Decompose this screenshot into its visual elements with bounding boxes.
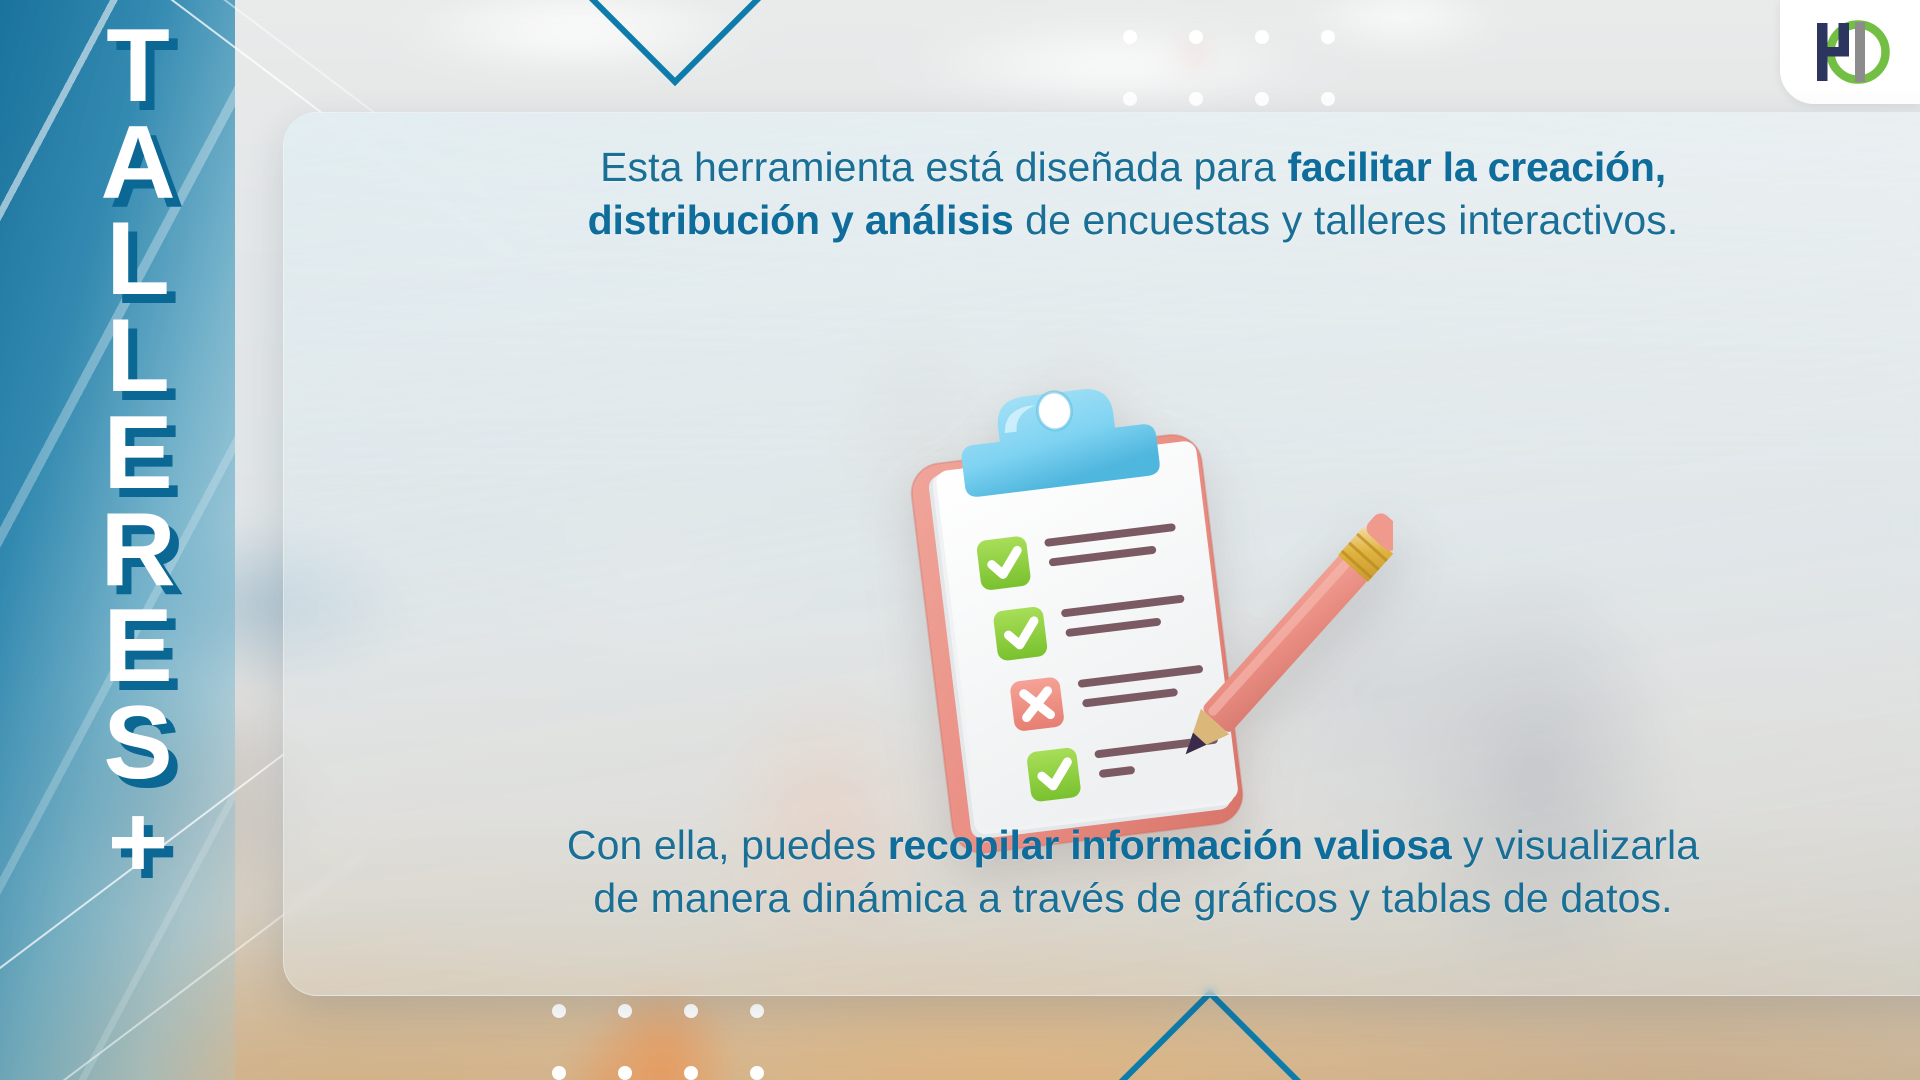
clipboard-checklist-icon	[873, 375, 1393, 895]
top-line1-plain: Esta herramienta está diseñada para	[600, 144, 1287, 190]
brand-letter: L	[106, 308, 170, 405]
top-paragraph: Esta herramienta está diseñada para faci…	[284, 141, 1920, 248]
brand-letter-plus: +	[108, 794, 169, 891]
dot-grid-top-right	[1123, 30, 1335, 106]
brand-letter: R	[100, 502, 175, 599]
brand-letter: T	[106, 18, 170, 115]
vertical-brand-word: T A L L E R E S +	[78, 18, 198, 890]
logo-badge	[1780, 0, 1920, 104]
bottom-line1-bold: recopilar información valiosa	[888, 822, 1452, 868]
hdo-logo-icon	[1807, 15, 1893, 89]
slide-root: T A L L E R E S + Es	[0, 0, 1920, 1080]
brand-letter: E	[103, 598, 172, 695]
top-line2-plain: de encuestas y talleres interactivos.	[1014, 197, 1679, 243]
top-line1-bold: facilitar la creación,	[1287, 144, 1665, 190]
dot-grid-bottom-left	[552, 1004, 764, 1080]
brand-letter: A	[100, 115, 175, 212]
content-glass-panel: Esta herramienta está diseñada para faci…	[283, 112, 1920, 996]
clipboard-illustration	[873, 375, 1393, 895]
brand-letter: L	[106, 211, 170, 308]
bottom-line1-tail: y visualizarla	[1452, 822, 1700, 868]
bottom-line1-plain: Con ella, puedes	[567, 822, 888, 868]
brand-letter: S	[103, 695, 172, 792]
top-line2-bold: distribución y análisis	[588, 197, 1014, 243]
bottom-line2-plain: de manera dinámica a través de gráficos …	[593, 875, 1672, 921]
brand-letter: E	[103, 405, 172, 502]
bottom-paragraph: Con ella, puedes recopilar información v…	[284, 819, 1920, 926]
